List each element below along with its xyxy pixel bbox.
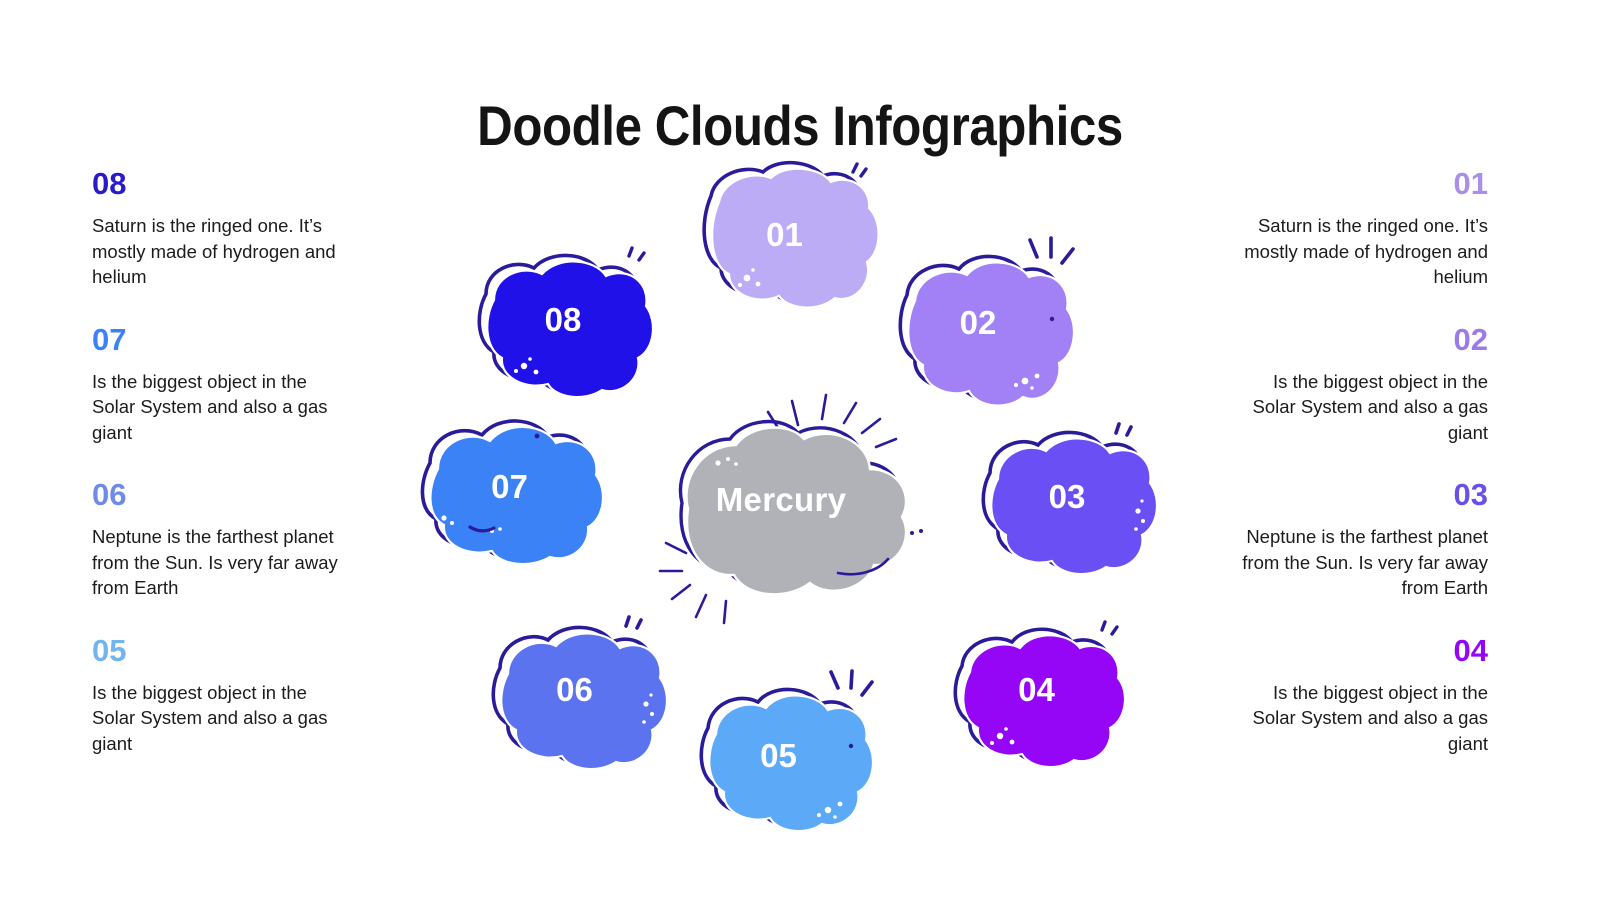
cloud-node-05[interactable]: 05 — [688, 670, 873, 830]
item-description: Neptune is the farthest planet from the … — [1238, 524, 1488, 601]
cloud-node-01[interactable]: 01 — [685, 150, 880, 315]
cloud-04-fill — [963, 635, 1125, 767]
cloud-03-fill — [991, 438, 1157, 574]
list-item: 07 Is the biggest object in the Solar Sy… — [92, 321, 342, 446]
item-description: Is the biggest object in the Solar Syste… — [92, 680, 342, 757]
cloud-04-accent-dash — [1102, 622, 1117, 634]
list-item: 06 Neptune is the farthest planet from t… — [92, 476, 342, 601]
list-item: 01 Saturn is the ringed one. It’s mostly… — [1238, 165, 1488, 290]
item-number: 01 — [1238, 165, 1488, 203]
cloud-01-accent-dash — [853, 164, 866, 176]
left-text-column: 08 Saturn is the ringed one. It’s mostly… — [92, 165, 342, 756]
cloud-05-fill — [709, 695, 873, 831]
item-number: 03 — [1238, 476, 1488, 514]
cloud-node-08[interactable]: 08 — [466, 238, 656, 398]
cloud-01-fill — [712, 169, 878, 308]
item-number: 04 — [1238, 632, 1488, 670]
item-number: 07 — [92, 321, 342, 359]
item-number: 08 — [92, 165, 342, 203]
cloud-06-accent-dash — [626, 617, 641, 628]
cloud-05-accent-eye — [849, 744, 853, 748]
item-description: Saturn is the ringed one. It’s mostly ma… — [1238, 213, 1488, 290]
list-item: 04 Is the biggest object in the Solar Sy… — [1238, 632, 1488, 757]
list-item: 02 Is the biggest object in the Solar Sy… — [1238, 321, 1488, 446]
list-item: 08 Saturn is the ringed one. It’s mostly… — [92, 165, 342, 290]
right-text-column: 01 Saturn is the ringed one. It’s mostly… — [1238, 165, 1488, 756]
cloud-07-fill — [430, 427, 603, 564]
cloud-node-center[interactable]: Mercury — [640, 385, 930, 615]
cloud-node-02[interactable]: 02 — [885, 235, 1075, 410]
item-number: 05 — [92, 632, 342, 670]
cloud-05-sparkle-lines — [831, 671, 872, 695]
item-description: Is the biggest object in the Solar Syste… — [1238, 680, 1488, 757]
item-number: 06 — [92, 476, 342, 514]
cloud-node-04[interactable]: 04 — [942, 612, 1127, 767]
item-description: Is the biggest object in the Solar Syste… — [1238, 369, 1488, 446]
cloud-02-fill — [908, 262, 1074, 405]
cloud-03-accent-dash — [1116, 424, 1131, 435]
item-number: 02 — [1238, 321, 1488, 359]
cloud-02-accent-eye — [1050, 317, 1054, 321]
cloud-02-sparkle-lines — [1030, 238, 1073, 263]
center-accent-eye-dots — [910, 529, 923, 535]
cloud-node-07[interactable]: 07 — [408, 405, 603, 565]
cloud-06-fill — [501, 633, 667, 769]
cloud-node-03[interactable]: 03 — [970, 415, 1160, 575]
item-description: Is the biggest object in the Solar Syste… — [92, 369, 342, 446]
item-description: Neptune is the farthest planet from the … — [92, 524, 342, 601]
list-item: 05 Is the biggest object in the Solar Sy… — [92, 632, 342, 757]
cloud-07-accent-eye — [535, 434, 540, 439]
item-description: Saturn is the ringed one. It’s mostly ma… — [92, 213, 342, 290]
cloud-08-fill — [487, 261, 653, 397]
cloud-node-06[interactable]: 06 — [482, 608, 667, 768]
list-item: 03 Neptune is the farthest planet from t… — [1238, 476, 1488, 601]
cloud-diagram: 01 02 — [390, 130, 1190, 850]
cloud-08-accent-dash — [629, 248, 644, 260]
